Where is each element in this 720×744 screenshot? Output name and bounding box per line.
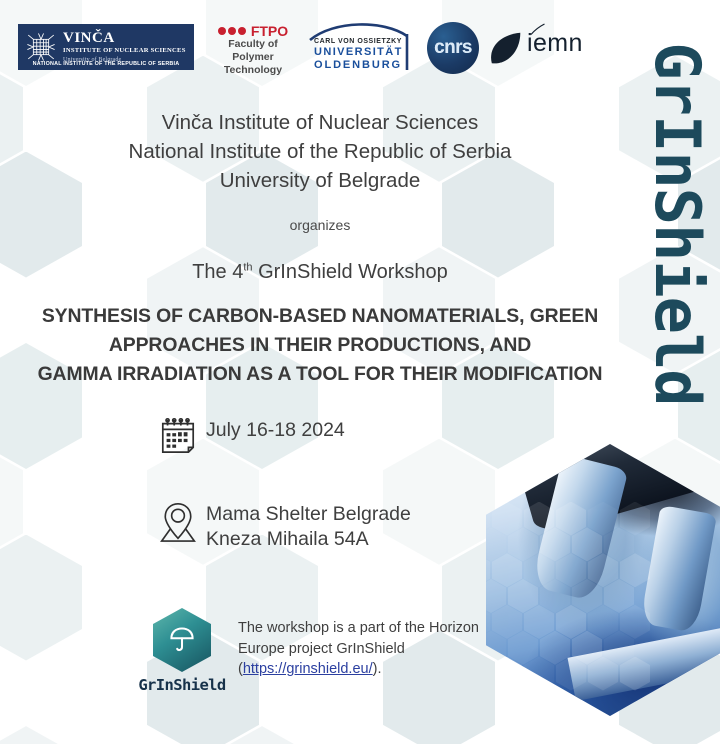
- title-line-2: APPROACHES IN THEIR PRODUCTIONS, AND: [0, 331, 640, 360]
- funding-note-line1: The workshop is a part of the Horizon: [238, 620, 479, 636]
- footer-block: GrInShield The workshop is a part of the…: [138, 608, 479, 694]
- photo-hexagon-cell: [524, 502, 554, 536]
- workshop-ordinal: th: [243, 262, 252, 274]
- photo-hexagon-cell: [588, 553, 618, 587]
- photo-hexagon-cell: [620, 553, 650, 587]
- photo-hexagon-cell: [508, 527, 538, 561]
- grinshield-hex-mark: [153, 608, 211, 672]
- event-date-row: July 16-18 2024: [150, 416, 411, 456]
- photo-hexagon-cell: [588, 502, 618, 536]
- photo-hexagon-cell: [588, 657, 618, 691]
- event-details: July 16-18 2024 Mama Shelter Belgrade Kn…: [150, 416, 411, 552]
- grinshield-logo: GrInShield: [138, 608, 226, 694]
- photo-hexagon-cell: [556, 502, 586, 536]
- calendar-icon: [150, 416, 206, 456]
- umbrella-shield-icon: [167, 625, 197, 655]
- workshop-prefix: The 4: [192, 261, 243, 283]
- organizer-line-1: Vinča Institute of Nuclear Sciences: [0, 108, 640, 137]
- map-pin-icon: [150, 500, 206, 544]
- photo-hexagon-cell: [492, 605, 522, 639]
- organizer-line-2: National Institute of the Republic of Se…: [0, 137, 640, 166]
- paren-close: ).: [373, 661, 382, 677]
- title-line-1: SYNTHESIS OF CARBON-BASED NANOMATERIALS,…: [0, 302, 640, 331]
- title-line-3: GAMMA IRRADIATION AS A TOOL FOR THEIR MO…: [0, 360, 640, 389]
- event-date: July 16-18 2024: [206, 416, 345, 443]
- event-venue-row: Mama Shelter Belgrade Kneza Mihaila 54A: [150, 500, 411, 552]
- vertical-grinshield-banner: GrInShield: [638, 14, 716, 434]
- organizes-label: organizes: [0, 217, 640, 233]
- organizer-block: Vinča Institute of Nuclear Sciences Nati…: [0, 108, 640, 195]
- photo-hexagon-cell: [572, 527, 602, 561]
- organizer-line-3: University of Belgrade: [0, 166, 640, 195]
- photo-hexagon-cell: [556, 605, 586, 639]
- photo-hexagon-cell: [524, 553, 554, 587]
- photo-hexagon-cell: [620, 605, 650, 639]
- photo-hexagon-cell: [508, 579, 538, 613]
- photo-hexagon-cell: [620, 502, 650, 536]
- background-hexagon: [0, 726, 82, 744]
- workshop-edition-line: The 4th GrInShield Workshop: [0, 261, 640, 284]
- photo-hexagon-cell: [540, 631, 570, 665]
- grinshield-website-link[interactable]: https://grinshield.eu/: [243, 661, 373, 677]
- event-venue: Mama Shelter Belgrade Kneza Mihaila 54A: [206, 500, 411, 552]
- photo-hexagon-cell: [508, 631, 538, 665]
- photo-hexagon-cell: [604, 527, 634, 561]
- photo-hexagon-cell: [604, 631, 634, 665]
- page-title: SYNTHESIS OF CARBON-BASED NANOMATERIALS,…: [0, 302, 640, 388]
- workshop-poster: VINČA INSTITUTE OF NUCLEAR SCIENCES Univ…: [0, 0, 720, 744]
- background-hexagon: [0, 535, 82, 661]
- funding-note-line2: Europe project GrInShield: [238, 641, 405, 657]
- workshop-suffix: GrInShield Workshop: [253, 261, 448, 283]
- venue-name: Mama Shelter Belgrade: [206, 503, 411, 525]
- spacer: [150, 456, 411, 500]
- grinshield-wordmark: GrInShield: [138, 676, 226, 694]
- venue-address: Kneza Mihaila 54A: [206, 528, 369, 550]
- poster-content: Vinča Institute of Nuclear Sciences Nati…: [0, 0, 640, 388]
- vertical-banner-text: GrInShield: [646, 42, 708, 405]
- photo-hexagon-cell: [540, 579, 570, 613]
- photo-hexagon-cell: [556, 657, 586, 691]
- photo-hexagon-cell: [572, 631, 602, 665]
- photo-hexagon-cell: [524, 605, 554, 639]
- photo-hexagon-cell: [572, 579, 602, 613]
- photo-hexagon-cell: [492, 553, 522, 587]
- photo-hexagon-cell: [556, 553, 586, 587]
- photo-hexagon-cell: [540, 527, 570, 561]
- photo-hexagon-cell: [588, 605, 618, 639]
- photo-hexagon-cell: [620, 657, 650, 691]
- photo-hexagon-cell: [604, 579, 634, 613]
- funding-note: The workshop is a part of the Horizon Eu…: [238, 608, 479, 680]
